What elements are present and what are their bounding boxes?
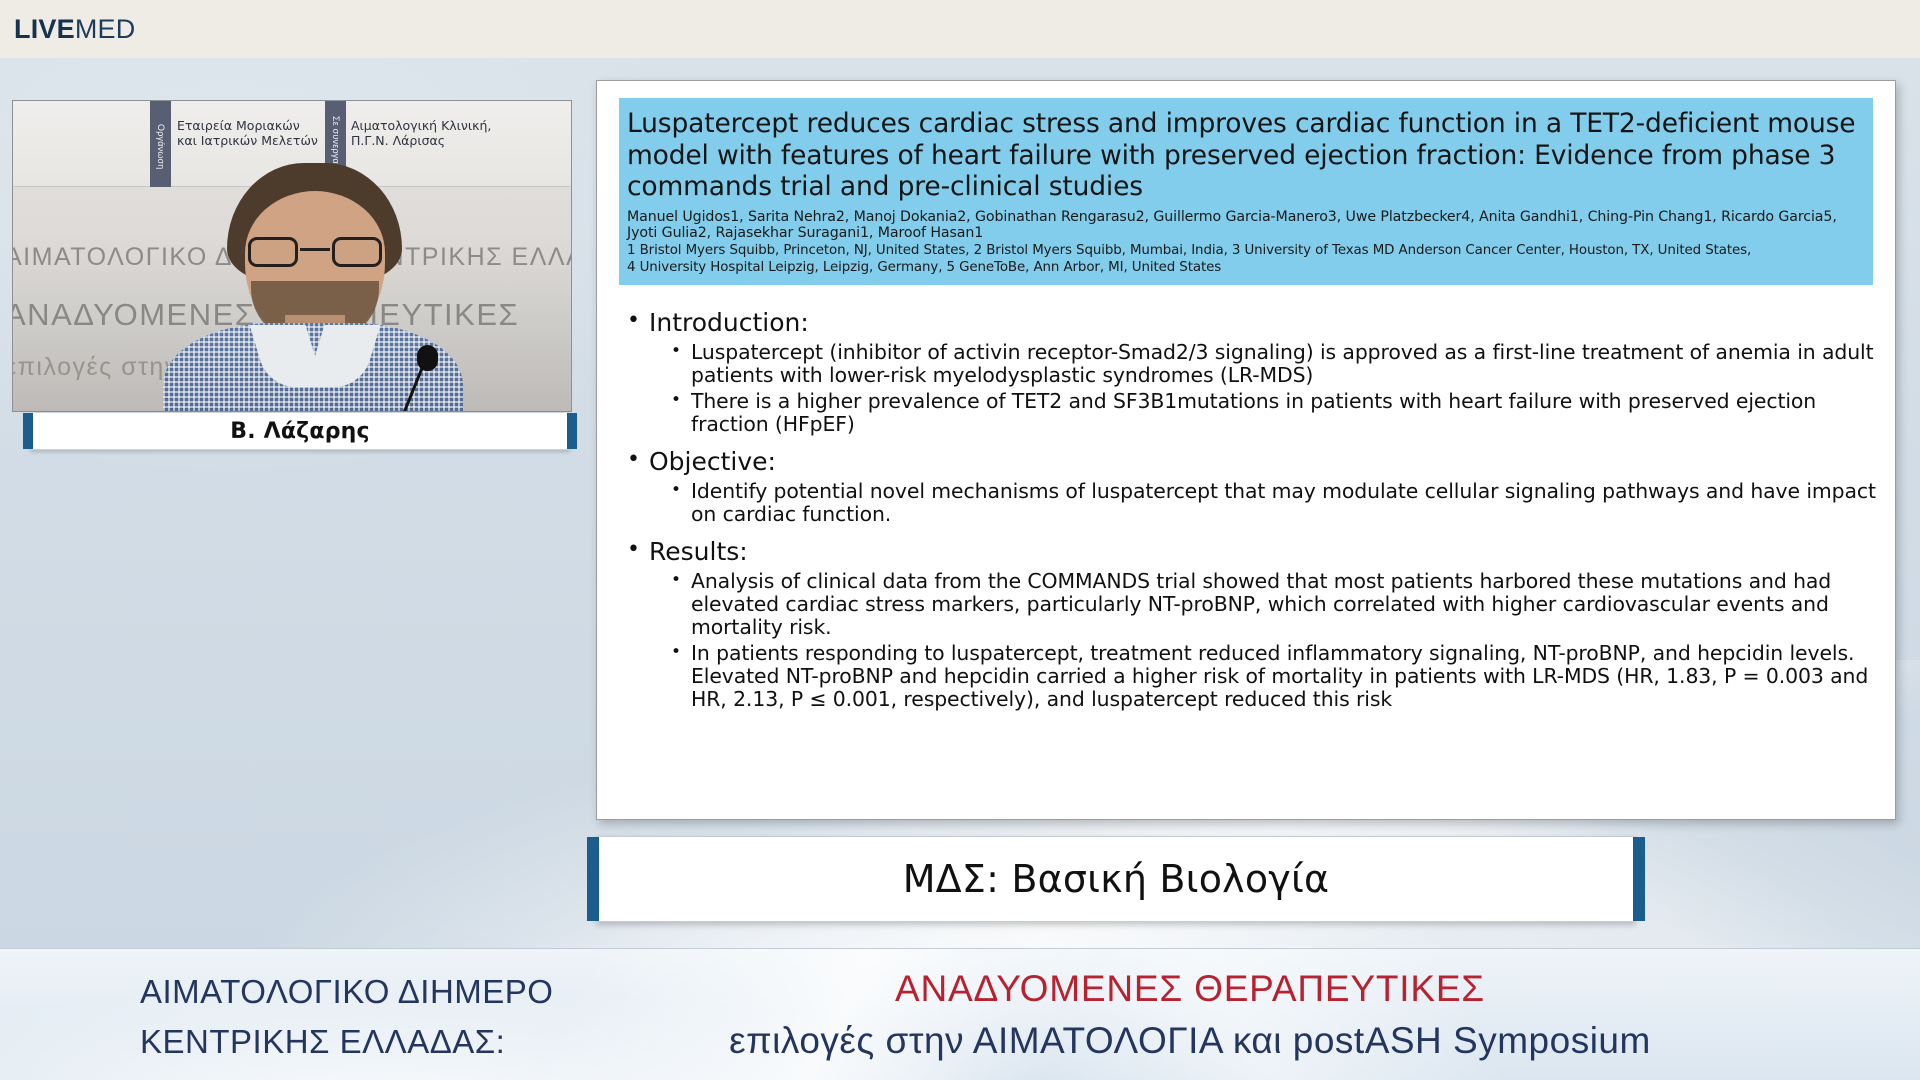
section-bullet: There is a higher prevalence of TET2 and… (619, 390, 1879, 436)
backdrop-partner-label: Αιματολογική Κλινική, Π.Γ.Ν. Λάρισας (351, 118, 501, 148)
section-heading: Results: (619, 536, 1879, 568)
top-header-bar: LIVEMED (0, 0, 1920, 58)
backdrop-organizer-label: Εταιρεία Μοριακών και Ιατρικών Μελετών (177, 118, 322, 148)
slide-section: Introduction: Luspatercept (inhibitor of… (619, 307, 1879, 436)
speaker-video-panel[interactable]: Οργάνωση Εταιρεία Μοριακών και Ιατρικών … (12, 100, 572, 430)
footer-left-line-1: ΑΙΜΑΤΟΛΟΓΙΚΟ ΔΙΗΜΕΡΟ (140, 967, 610, 1017)
session-title: ΜΔΣ: Βασική Βιολογία (903, 857, 1330, 901)
logo-live-text: LIVE (14, 14, 75, 44)
section-bullet: Luspatercept (inhibitor of activin recep… (619, 341, 1879, 387)
slide-title: Luspatercept reduces cardiac stress and … (627, 108, 1865, 203)
footer-right-line-2: επιλογές στην ΑΙΜΑΤΟΛΟΓΙΑ και postASH Sy… (600, 1015, 1780, 1067)
section-heading: Introduction: (619, 307, 1879, 339)
slide-section-list: Introduction: Luspatercept (inhibitor of… (619, 307, 1879, 711)
congress-footer-banner: ΑΙΜΑΤΟΛΟΓΙΚΟ ΔΙΗΜΕΡΟ ΚΕΝΤΡΙΚΗΣ ΕΛΛΑΔΑΣ: … (0, 948, 1920, 1080)
footer-left-line-2: ΚΕΝΤΡΙΚΗΣ ΕΛΛΑΔΑΣ: (140, 1017, 610, 1067)
slide-section: Results: Analysis of clinical data from … (619, 536, 1879, 711)
speaker-figure (163, 163, 463, 412)
section-bullet-list: Identify potential novel mechanisms of l… (619, 480, 1879, 526)
speaker-nameplate: Β. Λάζαρης (30, 412, 570, 450)
video-frame[interactable]: Οργάνωση Εταιρεία Μοριακών και Ιατρικών … (12, 100, 572, 412)
slide-affiliation-line-1: 1 Bristol Myers Squibb, Princeton, NJ, U… (627, 243, 1865, 260)
section-bullet: In patients responding to luspatercept, … (619, 642, 1879, 711)
speaker-name: Β. Λάζαρης (230, 419, 370, 444)
presentation-slide[interactable]: Luspatercept reduces cardiac stress and … (596, 80, 1896, 820)
microphone-icon (417, 345, 438, 371)
slide-section: Objective: Identify potential novel mech… (619, 446, 1879, 526)
slide-body: Introduction: Luspatercept (inhibitor of… (619, 307, 1879, 711)
livemed-logo[interactable]: LIVEMED (14, 14, 135, 44)
session-title-bar: ΜΔΣ: Βασική Βιολογία (596, 836, 1636, 922)
section-bullet: Analysis of clinical data from the COMMA… (619, 570, 1879, 639)
footer-right-text: ΑΝΑΔΥΟΜΕΝΕΣ ΘΕΡΑΠΕΥΤΙΚΕΣ επιλογές στην Α… (600, 963, 1780, 1067)
section-bullet: Identify potential novel mechanisms of l… (619, 480, 1879, 526)
section-bullet-list: Luspatercept (inhibitor of activin recep… (619, 341, 1879, 436)
footer-right-line-1: ΑΝΑΔΥΟΜΕΝΕΣ ΘΕΡΑΠΕΥΤΙΚΕΣ (600, 963, 1780, 1015)
logo-med-text: MED (75, 14, 136, 44)
slide-title-block: Luspatercept reduces cardiac stress and … (619, 98, 1873, 285)
glasses-icon (246, 237, 384, 267)
slide-affiliation-line-2: 4 University Hospital Leipzig, Leipzig, … (627, 260, 1865, 277)
footer-left-text: ΑΙΜΑΤΟΛΟΓΙΚΟ ΔΙΗΜΕΡΟ ΚΕΝΤΡΙΚΗΣ ΕΛΛΑΔΑΣ: (140, 967, 610, 1067)
section-bullet-list: Analysis of clinical data from the COMMA… (619, 570, 1879, 711)
slide-authors: Manuel Ugidos1, Sarita Nehra2, Manoj Dok… (627, 209, 1865, 242)
section-heading: Objective: (619, 446, 1879, 478)
